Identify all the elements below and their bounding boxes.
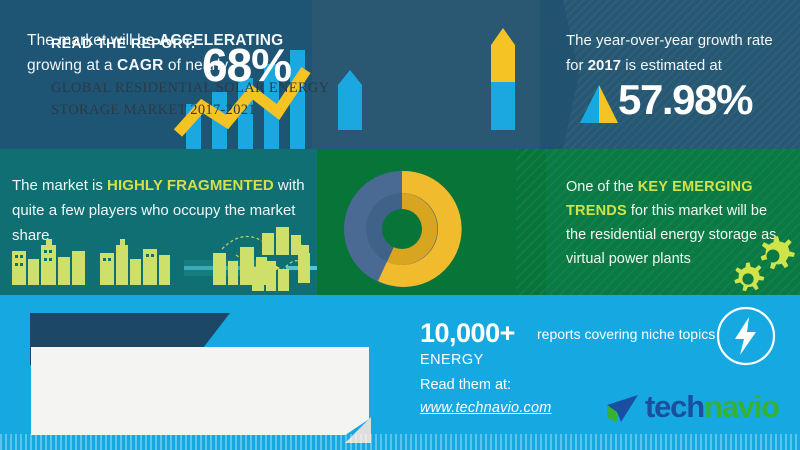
lightning-bolt-icon bbox=[715, 305, 777, 367]
report-count: 10,000+ bbox=[420, 318, 515, 349]
report-count-sub: reports covering niche topics bbox=[537, 326, 715, 342]
panel-apac-share: 55% of the growth will come from the APA… bbox=[317, 149, 546, 295]
fragmented-text-highlight: HIGHLY FRAGMENTED bbox=[107, 177, 274, 194]
trends-text-a: One of the bbox=[566, 179, 638, 195]
panel-yoy-growth: The year-over-year growth rate for 2017 … bbox=[540, 0, 800, 149]
growth-triangle-icon bbox=[578, 83, 620, 125]
gears-icon bbox=[726, 229, 800, 295]
panel-cagr: The market will be ACCELERATING growing … bbox=[0, 0, 312, 149]
yoy-text-year: 2017 bbox=[588, 57, 621, 74]
website-url-link[interactable]: www.technavio.com bbox=[420, 400, 552, 416]
technavio-logo-text[interactable]: technavio bbox=[645, 390, 779, 424]
logo-text-tech: tech bbox=[645, 389, 704, 424]
panel-key-trends: One of the KEY EMERGING TRENDS for this … bbox=[546, 149, 800, 295]
donut-chart-icon bbox=[332, 159, 482, 295]
read-them-at-label: Read them at: bbox=[420, 377, 511, 393]
logo-text-navio: navio bbox=[704, 389, 779, 424]
read-the-report-label: READ THE REPORT: bbox=[51, 35, 196, 51]
panel-incremental-growth: INCREMENTAL GROWTH $6.7 bn 2016 2021 bbox=[312, 0, 540, 149]
yoy-text-c: is estimated at bbox=[621, 57, 722, 74]
yoy-text-b: for bbox=[566, 57, 588, 74]
footer-bar bbox=[0, 295, 800, 450]
yoy-text: The year-over-year growth rate for 2017 … bbox=[566, 28, 791, 78]
page-fold-icon bbox=[345, 417, 371, 443]
top-row: The market will be ACCELERATING growing … bbox=[0, 0, 800, 149]
middle-row: The market is HIGHLY FRAGMENTED with qui… bbox=[0, 149, 800, 295]
yoy-value: 57.98% bbox=[618, 76, 752, 124]
report-title[interactable]: GLOBAL RESIDENTIAL SOLAR ENERGY STORAGE … bbox=[51, 77, 351, 121]
report-category: ENERGY bbox=[420, 352, 484, 368]
infographic-root: The market will be ACCELERATING growing … bbox=[0, 0, 800, 450]
city-buildings-icon bbox=[0, 225, 317, 295]
cagr-text-cagr: CAGR bbox=[117, 57, 163, 74]
cagr-text-b: growing at a bbox=[27, 57, 117, 74]
incremental-bars-icon bbox=[312, 0, 540, 149]
paper-plane-logo-icon bbox=[605, 394, 641, 424]
yoy-text-a: The year-over-year growth rate bbox=[566, 32, 773, 49]
report-card[interactable] bbox=[31, 347, 369, 435]
fragmented-text-a: The market is bbox=[12, 177, 107, 194]
panel-fragmented: The market is HIGHLY FRAGMENTED with qui… bbox=[0, 149, 317, 295]
